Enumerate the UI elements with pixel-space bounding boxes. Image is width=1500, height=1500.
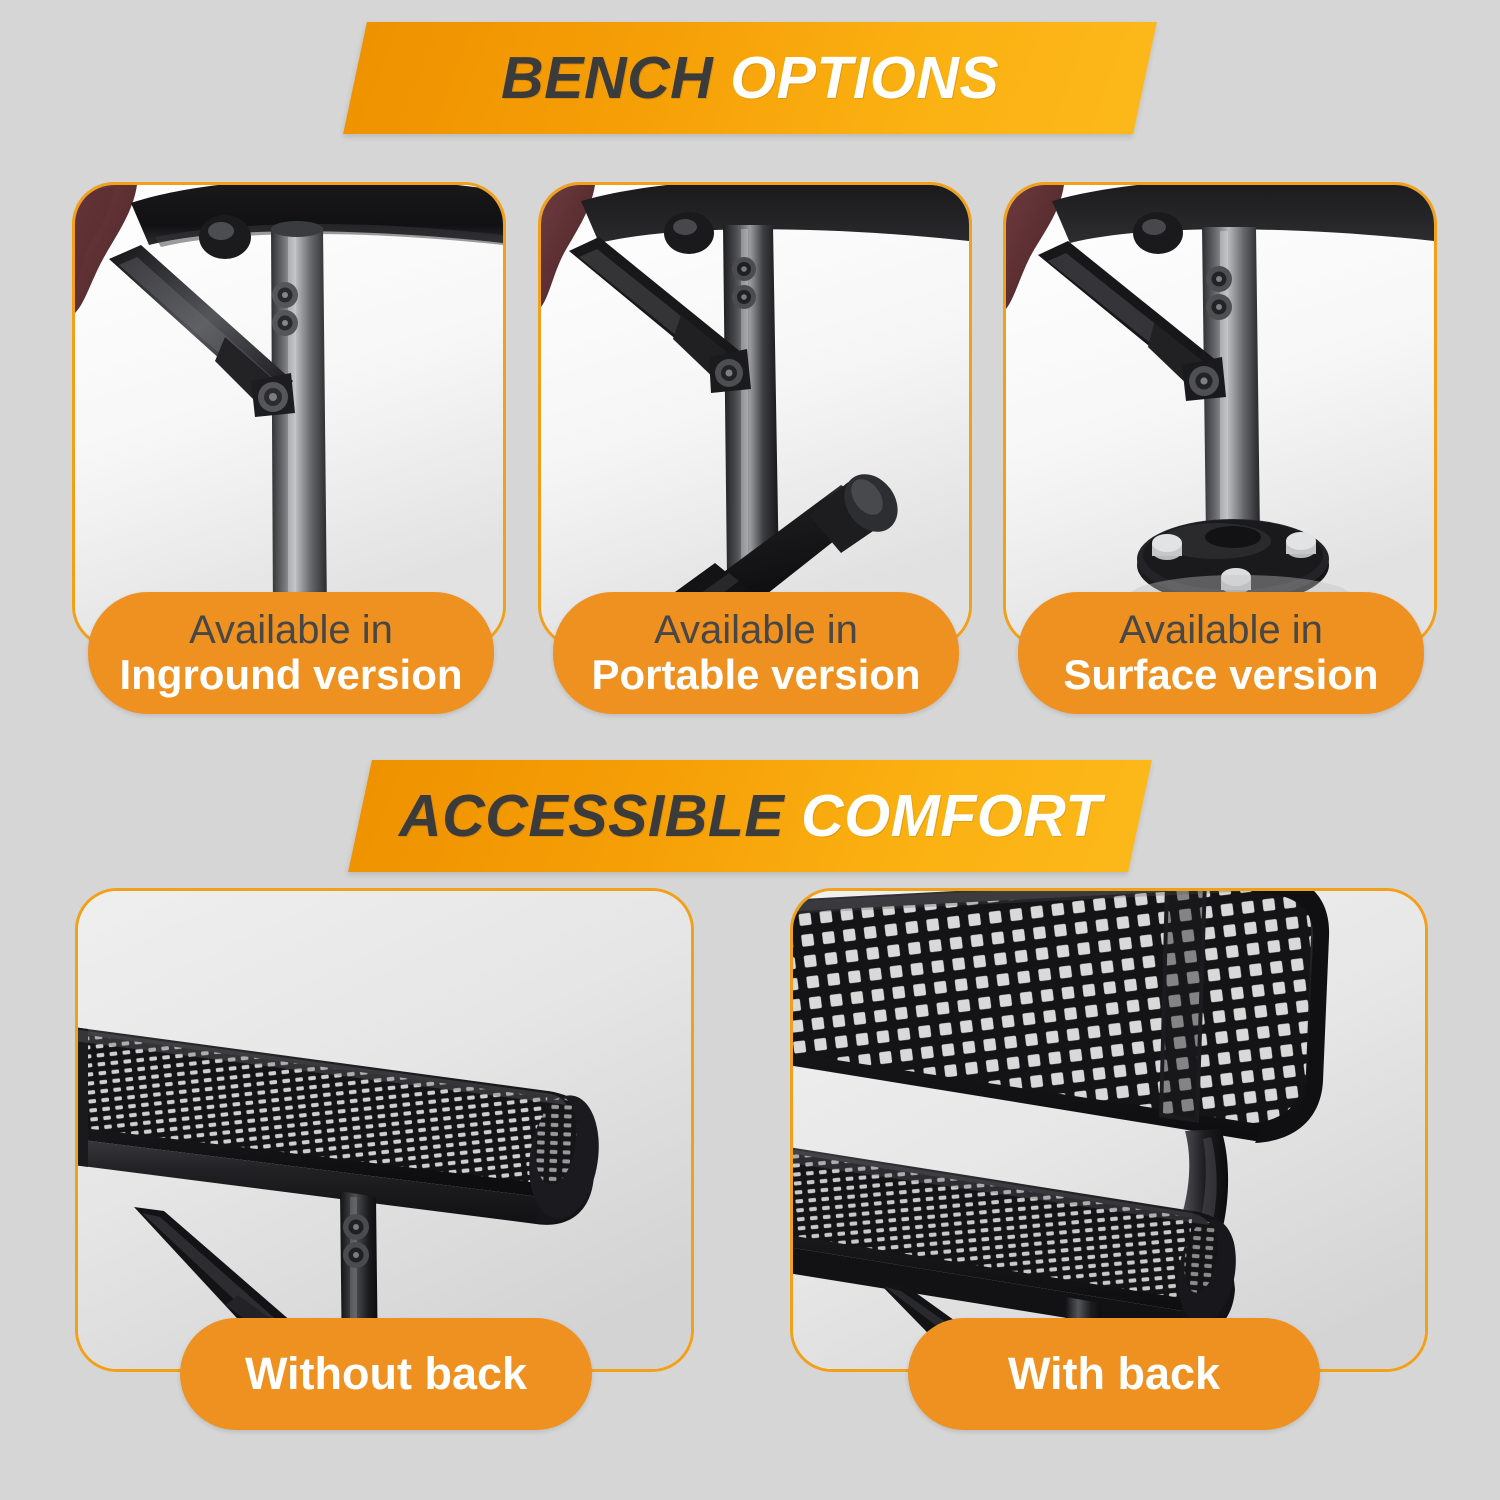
bench-card-with-back[interactable]	[790, 888, 1428, 1372]
caption-line-2: Surface version	[1063, 652, 1378, 697]
bench-option-card-surface[interactable]	[1003, 182, 1437, 648]
caption-pill-with-back: With back	[908, 1318, 1320, 1430]
bench-options-banner-text: BENCH OPTIONS	[501, 44, 999, 112]
banner-dark-word: BENCH	[501, 45, 730, 111]
caption-line-2: Portable version	[591, 652, 920, 697]
caption-pill-surface: Available in Surface version	[1018, 592, 1424, 714]
bench-option-card-inground[interactable]	[72, 182, 506, 648]
caption-line-1: Available in	[654, 609, 858, 652]
caption-pill-without-back: Without back	[180, 1318, 592, 1430]
caption-line: With back	[1008, 1350, 1220, 1399]
caption-line: Without back	[245, 1350, 527, 1399]
caption-line-1: Available in	[1119, 609, 1323, 652]
bench-leg-inground-photo	[75, 185, 503, 645]
accessible-comfort-banner: ACCESSIBLE COMFORT	[348, 760, 1152, 872]
bench-card-without-back[interactable]	[75, 888, 694, 1372]
bench-leg-portable-photo	[541, 185, 969, 645]
bench-with-backrest-photo	[793, 891, 1425, 1369]
banner-light-word: OPTIONS	[730, 45, 999, 111]
caption-pill-portable: Available in Portable version	[553, 592, 959, 714]
bench-leg-surface-mount-photo	[1006, 185, 1434, 645]
banner-light-word: COMFORT	[801, 783, 1102, 849]
caption-line-1: Available in	[189, 609, 393, 652]
bench-option-card-portable[interactable]	[538, 182, 972, 648]
caption-pill-inground: Available in Inground version	[88, 592, 494, 714]
caption-line-2: Inground version	[119, 652, 462, 697]
accessible-comfort-banner-text: ACCESSIBLE COMFORT	[399, 782, 1102, 850]
bench-options-banner: BENCH OPTIONS	[343, 22, 1157, 134]
bench-without-backrest-photo	[78, 891, 691, 1369]
banner-dark-word: ACCESSIBLE	[399, 783, 801, 849]
